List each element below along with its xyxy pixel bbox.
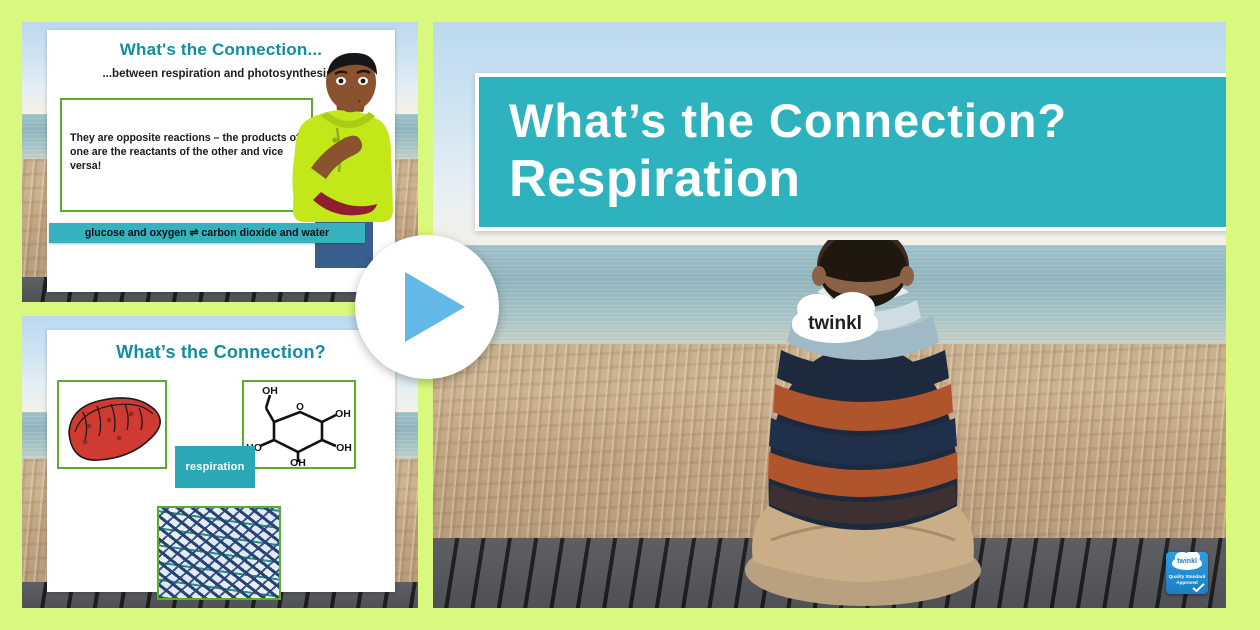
slide-canvas: What's the Connection... ...between resp… — [47, 30, 395, 292]
answer-text: They are opposite reactions – the produc… — [70, 132, 304, 174]
play-triangle-icon — [405, 272, 465, 342]
play-button[interactable] — [355, 235, 499, 379]
respiration-chip: respiration — [175, 446, 255, 488]
badge-brand-text: twinkl — [1166, 558, 1208, 565]
mitochondrion-tile — [57, 380, 167, 469]
svg-text:OH: OH — [290, 457, 306, 467]
title-line-1: What’s the Connection? — [509, 93, 1067, 148]
badge-line-1: Quality Standard — [1166, 574, 1208, 579]
presentation-preview: What's the Connection... ...between resp… — [0, 0, 1260, 630]
slide-title-2: What’s the Connection? — [47, 342, 395, 363]
title-line-2: Respiration — [509, 149, 801, 209]
glucose-structure-icon: O OH OH HO OH OH — [244, 382, 354, 467]
answer-box: They are opposite reactions – the produc… — [60, 98, 313, 212]
svg-text:OH: OH — [262, 385, 278, 397]
twinkl-watermark: twinkl — [792, 305, 878, 343]
slide-canvas-2: What’s the Connection? — [47, 330, 395, 592]
micrograph-caption: Plant section of leaf cells shown under … — [159, 591, 279, 598]
svg-text:O: O — [296, 402, 304, 413]
title-banner: What’s the Connection? Respiration — [475, 73, 1226, 231]
video-preview-panel[interactable]: What’s the Connection? Respiration twink… — [433, 22, 1226, 608]
twinkl-watermark-text: twinkl — [808, 313, 862, 335]
glucose-tile: O OH OH HO OH OH — [242, 380, 356, 469]
svg-text:OH: OH — [336, 442, 352, 454]
slide-thumbnail-diagram[interactable]: What’s the Connection? — [22, 316, 418, 608]
slide-thumbnail-answer[interactable]: What's the Connection... ...between resp… — [22, 22, 418, 302]
equation-strip: glucose and oxygen ⇌ carbon dioxide and … — [49, 223, 365, 243]
check-icon — [1192, 583, 1205, 592]
plant-cells-micrograph: Plant section of leaf cells shown under … — [157, 506, 281, 600]
svg-text:OH: OH — [335, 408, 351, 420]
quality-standard-badge: twinkl Quality Standard Approved — [1166, 552, 1208, 594]
mitochondrion-icon — [59, 382, 165, 467]
